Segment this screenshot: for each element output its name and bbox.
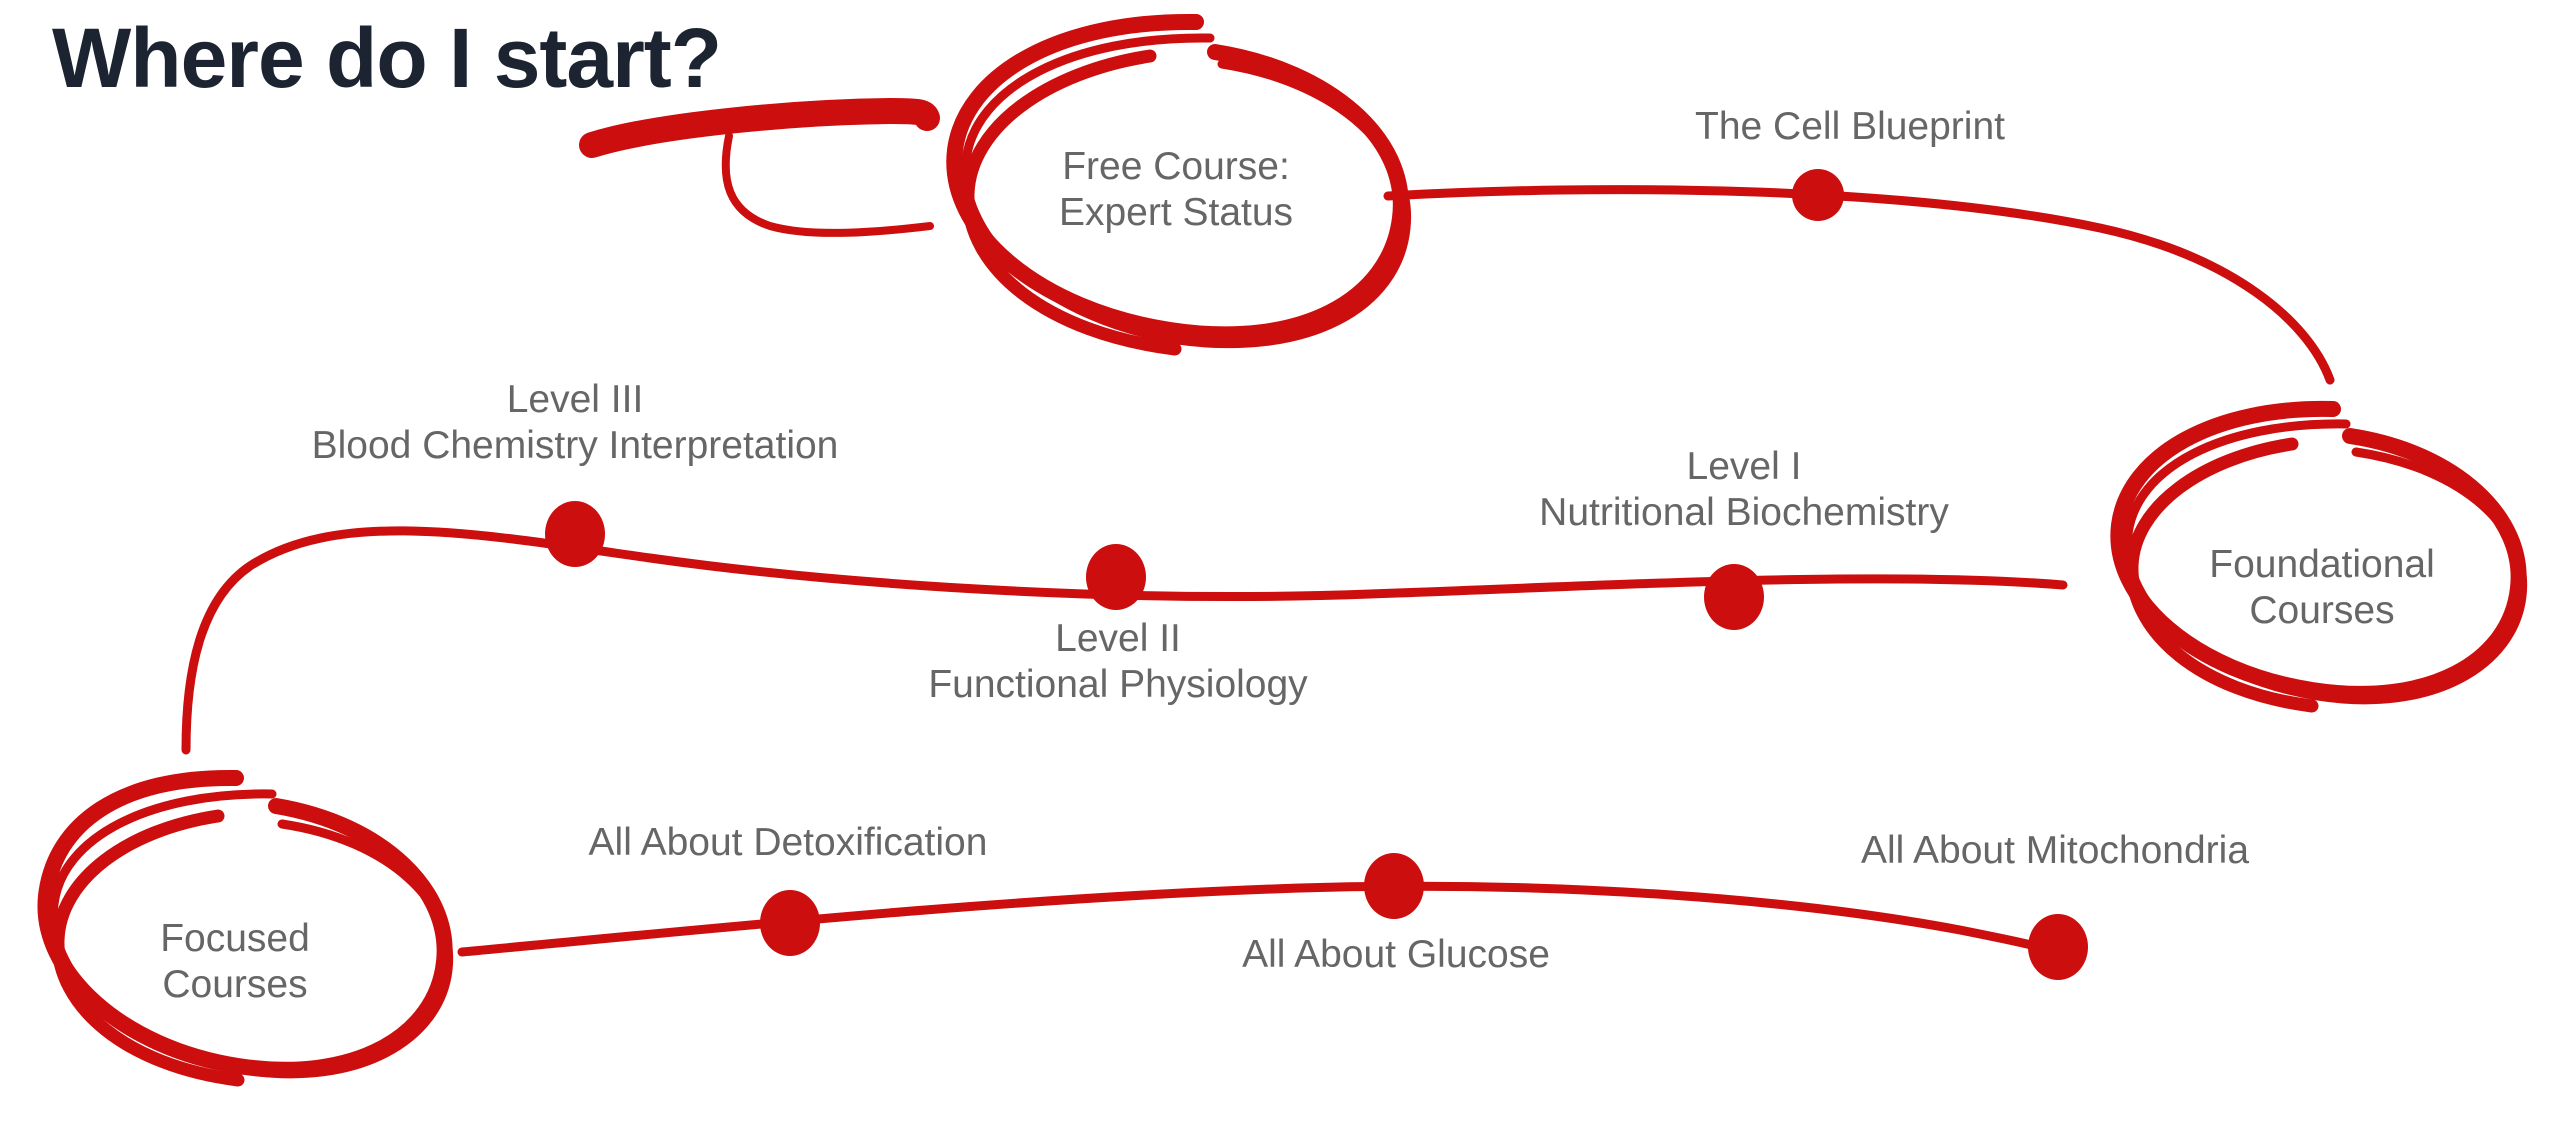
hub-label-foundational-line1: Foundational xyxy=(2209,542,2435,588)
node-label-all-about-glucose[interactable]: All About Glucose xyxy=(1242,932,1550,978)
node-label-level-2-line2: Functional Physiology xyxy=(928,662,1307,708)
node-dot-mitochondria-icon[interactable] xyxy=(2028,914,2088,980)
node-label-the-cell-blueprint[interactable]: The Cell Blueprint xyxy=(1695,104,2005,150)
node-label-level-1-line2: Nutritional Biochemistry xyxy=(1539,490,1949,536)
hub-label-foundational-courses[interactable]: Foundational Courses xyxy=(2209,542,2435,634)
node-label-level-1-line1: Level I xyxy=(1539,444,1949,490)
node-dot-the-cell-blueprint-icon[interactable] xyxy=(1792,169,1844,221)
node-label-mitochondria-line1: All About Mitochondria xyxy=(1861,828,2249,874)
node-label-level-1[interactable]: Level I Nutritional Biochemistry xyxy=(1539,444,1949,536)
hub-label-foundational-line2: Courses xyxy=(2209,588,2435,634)
node-label-level-2[interactable]: Level II Functional Physiology xyxy=(928,616,1307,708)
hub-label-focused-line2: Courses xyxy=(160,962,310,1008)
node-dot-glucose-icon[interactable] xyxy=(1364,853,1424,919)
node-dot-detoxification-icon[interactable] xyxy=(760,890,820,956)
node-label-all-about-mitochondria[interactable]: All About Mitochondria xyxy=(1861,828,2249,874)
node-label-level-2-line1: Level II xyxy=(928,616,1307,662)
red-underline-swoosh-icon xyxy=(592,111,927,145)
node-dot-level-2-icon[interactable] xyxy=(1086,544,1146,610)
node-label-the-cell-blueprint-line1: The Cell Blueprint xyxy=(1695,104,2005,150)
page-title: Where do I start? xyxy=(52,14,721,102)
node-label-level-3-line1: Level III xyxy=(312,377,839,423)
curved-pointer-line-icon xyxy=(726,136,930,233)
hub-label-free-course-line1: Free Course: xyxy=(1059,144,1293,190)
hub-label-free-course-line2: Expert Status xyxy=(1059,190,1293,236)
node-label-level-3[interactable]: Level III Blood Chemistry Interpretation xyxy=(312,377,839,469)
node-dot-level-3-icon[interactable] xyxy=(545,501,605,567)
hub-label-focused-line1: Focused xyxy=(160,916,310,962)
roadmap-infographic: Where do I start? Free Course: Expert St… xyxy=(0,0,2560,1148)
node-label-level-3-line2: Blood Chemistry Interpretation xyxy=(312,423,839,469)
top-branch-line xyxy=(1388,190,2330,380)
node-dot-level-1-icon[interactable] xyxy=(1704,564,1764,630)
hub-label-free-course[interactable]: Free Course: Expert Status xyxy=(1059,144,1293,236)
node-label-all-about-detoxification[interactable]: All About Detoxification xyxy=(589,820,988,866)
hub-label-focused-courses[interactable]: Focused Courses xyxy=(160,916,310,1008)
node-label-glucose-line1: All About Glucose xyxy=(1242,932,1550,978)
node-label-detoxification-line1: All About Detoxification xyxy=(589,820,988,866)
